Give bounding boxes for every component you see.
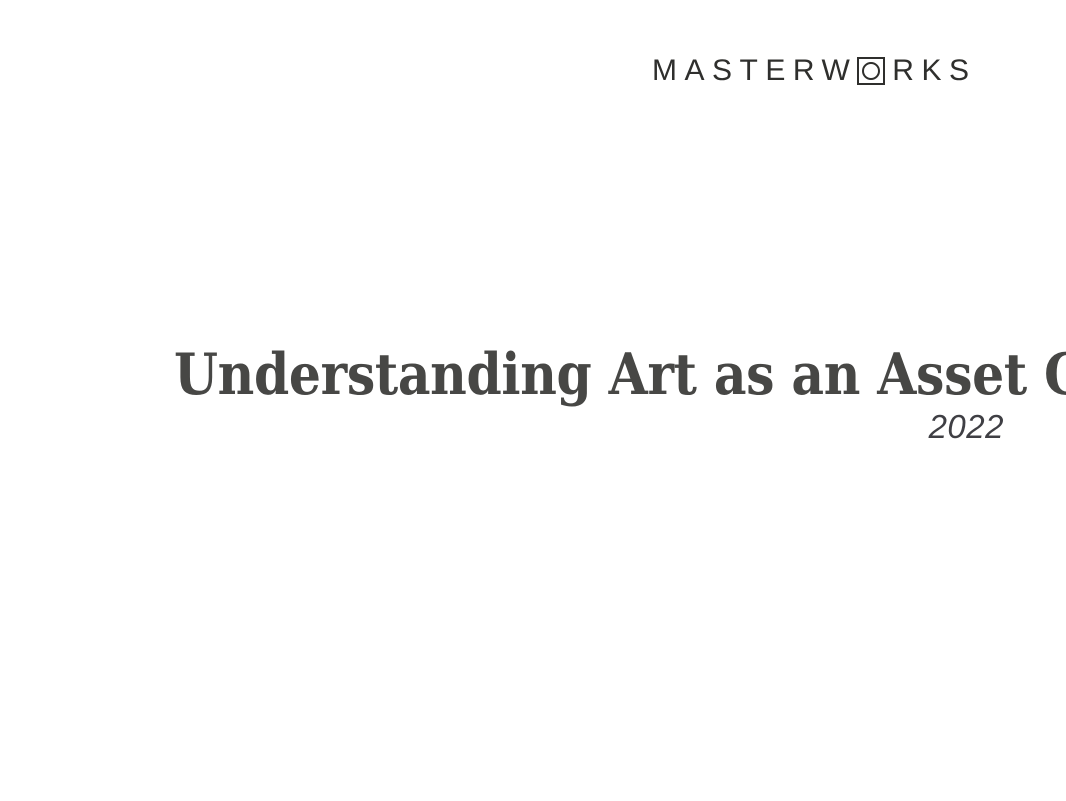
wordmark-ring-icon	[862, 62, 880, 80]
wordmark-text-before: MASTERW	[652, 56, 857, 86]
title-block: Understanding Art as an Asset Class 2022	[174, 346, 1004, 443]
masterworks-logo: MASTERW RKS	[652, 56, 976, 86]
footer: MASTERW RKS THIS PRESENTATION IS BEING C…	[0, 736, 1066, 784]
page-title: Understanding Art as an Asset Class	[174, 346, 909, 404]
title-slide: MASTERW RKS Understanding Art as an Asse…	[0, 0, 1066, 801]
wordmark-text-after: RKS	[892, 56, 976, 86]
wordmark-boxed-o-icon	[857, 57, 885, 85]
page-subtitle-year: 2022	[174, 410, 1004, 443]
